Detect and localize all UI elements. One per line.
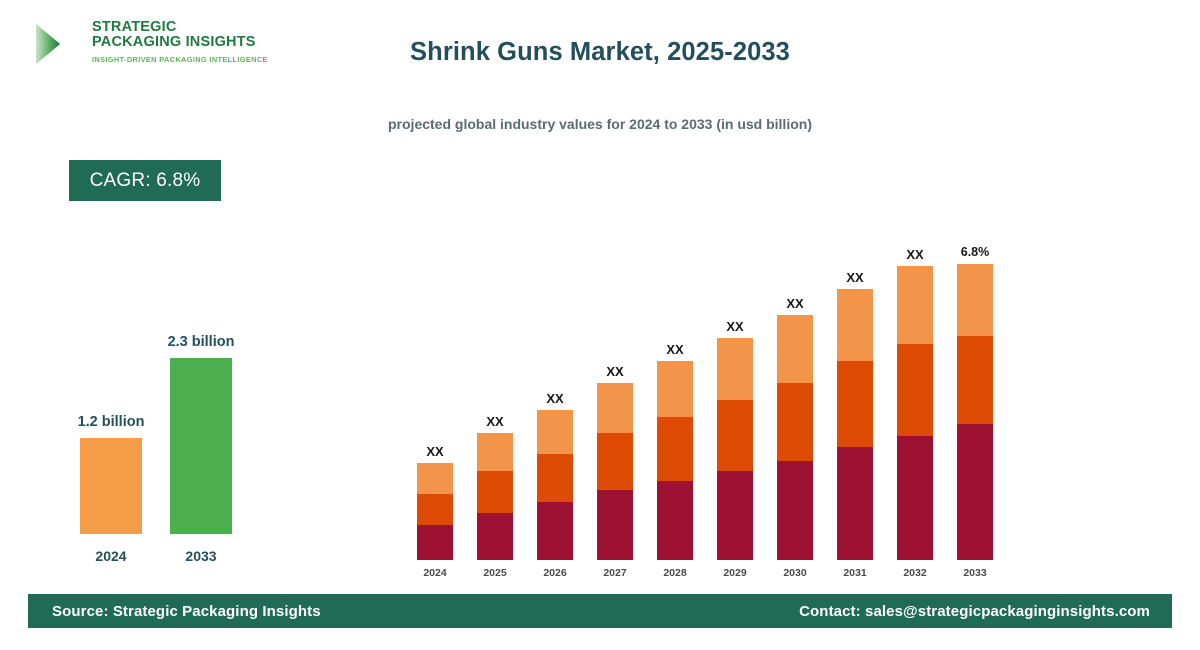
stacked-bar-2029: XX 2029 <box>717 338 753 560</box>
stacked-bar-year-2027: 2027 <box>603 567 626 579</box>
stacked-bar-label-2032: XX <box>906 247 923 262</box>
stacked-segment-middle-2029 <box>717 400 753 471</box>
stacked-bar-year-2032: 2032 <box>903 567 926 579</box>
stacked-bar-label-2030: XX <box>786 296 803 311</box>
comparison-bar-fill-2024 <box>80 438 142 534</box>
stacked-bar-label-2029: XX <box>726 319 743 334</box>
footer-bar: Source: Strategic Packaging Insights Con… <box>28 594 1172 628</box>
stacked-segment-top-2030 <box>777 315 813 383</box>
stacked-segment-top-2027 <box>597 383 633 433</box>
footer-source: Source: Strategic Packaging Insights <box>52 603 321 620</box>
comparison-bar-label-2033: 2033 <box>185 548 216 564</box>
stacked-bar-2026: XX 2026 <box>537 410 573 560</box>
stacked-bar-label-2033: 6.8% <box>961 245 990 259</box>
stacked-bar-label-2025: XX <box>486 414 503 429</box>
comparison-bar-fill-2033 <box>170 358 232 534</box>
stacked-bar-label-2024: XX <box>426 444 443 459</box>
stacked-segment-bottom-2024 <box>417 525 453 560</box>
stacked-bar-year-2029: 2029 <box>723 567 746 579</box>
stacked-segment-bottom-2026 <box>537 502 573 560</box>
stacked-segment-middle-2031 <box>837 361 873 447</box>
stacked-bar-label-2031: XX <box>846 270 863 285</box>
comparison-bar-label-2024: 2024 <box>95 548 126 564</box>
page-title: Shrink Guns Market, 2025-2033 <box>0 38 1200 67</box>
stacked-segment-middle-2028 <box>657 417 693 481</box>
comparison-bar-chart: 1.2 billion 2024 2.3 billion 2033 <box>50 300 310 570</box>
stacked-bar-2033: 6.8% 2033 <box>957 264 993 560</box>
chart-canvas: STRATEGIC PACKAGING INSIGHTS INSIGHT-DRI… <box>0 0 1200 650</box>
stacked-bar-year-2026: 2026 <box>543 567 566 579</box>
stacked-segment-top-2029 <box>717 338 753 400</box>
stacked-segment-bottom-2025 <box>477 513 513 560</box>
stacked-segment-middle-2033 <box>957 336 993 424</box>
stacked-bar-2031: XX 2031 <box>837 289 873 560</box>
stacked-bar-label-2026: XX <box>546 391 563 406</box>
stacked-bar-2032: XX 2032 <box>897 266 933 560</box>
stacked-segment-top-2026 <box>537 410 573 454</box>
stacked-bar-chart: XX 2024 XX 2025 XX 2026 XX 2027 <box>405 200 1025 560</box>
stacked-bar-year-2025: 2025 <box>483 567 506 579</box>
stacked-segment-top-2025 <box>477 433 513 471</box>
stacked-segment-top-2032 <box>897 266 933 344</box>
stacked-bar-label-2028: XX <box>666 342 683 357</box>
stacked-segment-middle-2024 <box>417 494 453 525</box>
stacked-segment-bottom-2031 <box>837 447 873 560</box>
stacked-segment-bottom-2028 <box>657 481 693 560</box>
stacked-bar-2028: XX 2028 <box>657 361 693 560</box>
stacked-bar-year-2033: 2033 <box>963 567 986 579</box>
stacked-bar-year-2028: 2028 <box>663 567 686 579</box>
stacked-segment-top-2031 <box>837 289 873 361</box>
stacked-segment-middle-2030 <box>777 383 813 461</box>
stacked-bar-2025: XX 2025 <box>477 433 513 560</box>
stacked-segment-middle-2026 <box>537 454 573 502</box>
stacked-segment-bottom-2029 <box>717 471 753 560</box>
brand-line-1: STRATEGIC <box>92 20 268 35</box>
stacked-segment-bottom-2032 <box>897 436 933 560</box>
stacked-segment-middle-2025 <box>477 471 513 513</box>
stacked-segment-middle-2032 <box>897 344 933 436</box>
comparison-bar-value-2033: 2.3 billion <box>168 334 235 350</box>
stacked-segment-top-2024 <box>417 463 453 494</box>
stacked-bar-2024: XX 2024 <box>417 463 453 560</box>
page-subtitle: projected global industry values for 202… <box>0 116 1200 132</box>
stacked-segment-middle-2027 <box>597 433 633 490</box>
stacked-bar-year-2031: 2031 <box>843 567 866 579</box>
stacked-bar-2027: XX 2027 <box>597 383 633 560</box>
stacked-segment-top-2028 <box>657 361 693 417</box>
cagr-badge: CAGR: 6.8% <box>69 160 221 201</box>
stacked-segment-bottom-2030 <box>777 461 813 560</box>
stacked-bar-2030: XX 2030 <box>777 315 813 560</box>
stacked-segment-bottom-2027 <box>597 490 633 560</box>
comparison-bar-value-2024: 1.2 billion <box>78 414 145 430</box>
stacked-bar-label-2027: XX <box>606 364 623 379</box>
comparison-bar-2033: 2.3 billion 2033 <box>170 284 232 534</box>
stacked-segment-top-2033 <box>957 264 993 336</box>
stacked-bar-year-2030: 2030 <box>783 567 806 579</box>
stacked-bar-year-2024: 2024 <box>423 567 446 579</box>
comparison-bar-2024: 1.2 billion 2024 <box>80 364 142 534</box>
stacked-segment-bottom-2033 <box>957 424 993 560</box>
footer-contact: Contact: sales@strategicpackaginginsight… <box>799 603 1150 620</box>
